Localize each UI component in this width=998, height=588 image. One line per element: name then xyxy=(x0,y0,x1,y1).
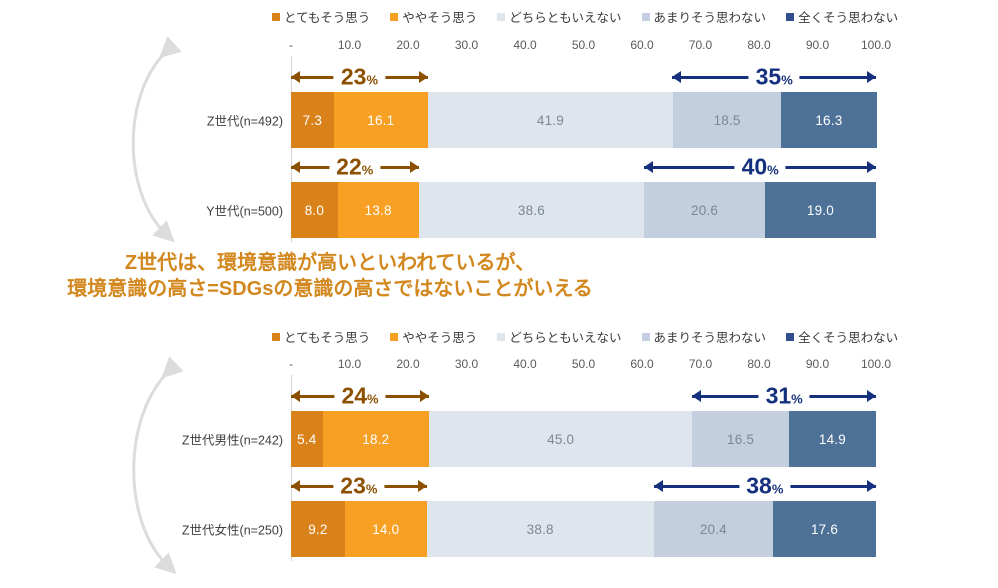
annotation-arrow: 40% xyxy=(644,156,876,178)
legend-item-label: どちらともいえない xyxy=(509,327,621,346)
bar-segment[interactable]: 20.6 xyxy=(644,182,765,238)
legend-item[interactable]: とてもそう思う xyxy=(272,327,370,346)
arrow-head-left-icon xyxy=(291,71,300,83)
axis-tick-label: 60.0 xyxy=(630,357,653,371)
legend-item-label: 全くそう思わない xyxy=(798,7,898,26)
annotation-value: 38% xyxy=(739,475,790,498)
axis-tick-label: 100.0 xyxy=(861,38,891,52)
bar-segment[interactable]: 8.0 xyxy=(291,182,338,238)
square-marker-icon xyxy=(272,13,280,21)
bar-segment[interactable]: 9.2 xyxy=(291,501,345,557)
annotation-number: 31 xyxy=(766,383,792,409)
axis-tick-label: - xyxy=(289,357,293,371)
bar-row: Z世代(n=492)7.316.141.918.516.3 xyxy=(291,92,876,148)
legend-item-label: 全くそう思わない xyxy=(798,327,898,346)
square-marker-icon xyxy=(390,13,398,21)
annotation-arrow: 23% xyxy=(291,475,427,497)
x-axis-top: -10.020.030.040.050.060.070.080.090.0100… xyxy=(291,38,876,54)
legend-item-label: ややそう思う xyxy=(402,327,477,346)
x-axis-bottom: -10.020.030.040.050.060.070.080.090.0100… xyxy=(291,357,876,373)
annotation-arrow: 24% xyxy=(291,385,429,407)
legend-item-label: どちらともいえない xyxy=(509,7,621,26)
axis-tick-label: 70.0 xyxy=(689,38,712,52)
axis-tick-label: 40.0 xyxy=(513,38,536,52)
square-marker-icon xyxy=(497,333,505,341)
bar-segment[interactable]: 18.2 xyxy=(323,411,429,467)
generation-trend-arrow-bottom xyxy=(108,356,198,581)
legend-item-label: とてもそう思う xyxy=(284,7,370,26)
annotation-number: 35 xyxy=(756,64,782,90)
arrow-head-left-icon xyxy=(291,161,300,173)
bar-segment[interactable]: 19.0 xyxy=(765,182,876,238)
arrow-head-right-icon xyxy=(867,390,876,402)
bar-segment[interactable]: 7.3 xyxy=(291,92,334,148)
square-marker-icon xyxy=(642,333,650,341)
bar-segment[interactable]: 45.0 xyxy=(429,411,692,467)
axis-tick-label: - xyxy=(289,38,293,52)
annotation-percent-sign: % xyxy=(767,163,779,178)
axis-tick-label: 30.0 xyxy=(455,357,478,371)
bar-row: Y世代(n=500)8.013.838.620.619.0 xyxy=(291,182,876,238)
legend-item-label: とてもそう思う xyxy=(284,327,370,346)
arrow-head-left-icon xyxy=(672,71,681,83)
bar-segment[interactable]: 14.0 xyxy=(345,501,427,557)
bar-segment[interactable]: 14.9 xyxy=(789,411,876,467)
category-label: Y世代(n=500) xyxy=(206,201,283,220)
legend-item[interactable]: ややそう思う xyxy=(390,7,477,26)
arrow-head-right-icon xyxy=(410,161,419,173)
center-message-line1: Z世代は、環境意識が高いといわれているが、 xyxy=(0,250,660,276)
legend-item-label: あまりそう思わない xyxy=(654,7,767,26)
arrow-head-right-icon xyxy=(867,480,876,492)
bar-segment[interactable]: 13.8 xyxy=(338,182,419,238)
axis-tick-label: 80.0 xyxy=(747,38,770,52)
axis-tick-label: 50.0 xyxy=(572,38,595,52)
arrow-head-right-icon xyxy=(419,71,428,83)
axis-tick-label: 10.0 xyxy=(338,357,361,371)
arrow-head-right-icon xyxy=(867,71,876,83)
square-marker-icon xyxy=(642,13,650,21)
annotation-value: 40% xyxy=(735,156,786,179)
axis-tick-label: 100.0 xyxy=(861,357,891,371)
axis-tick-label: 20.0 xyxy=(396,38,419,52)
arrow-head-right-icon xyxy=(420,390,429,402)
annotation-arrow: 23% xyxy=(291,66,428,88)
arrow-head-right-icon xyxy=(867,161,876,173)
axis-tick-label: 80.0 xyxy=(747,357,770,371)
bar-segment[interactable]: 18.5 xyxy=(673,92,781,148)
arrow-head-left-icon xyxy=(291,390,300,402)
arrow-head-left-icon xyxy=(644,161,653,173)
legend-item[interactable]: 全くそう思わない xyxy=(786,327,898,346)
bar-row: Z世代男性(n=242)5.418.245.016.514.9 xyxy=(291,411,876,467)
chart-top: Z世代(n=492)7.316.141.918.516.3Y世代(n=500)8… xyxy=(291,56,876,242)
annotation-percent-sign: % xyxy=(366,482,378,497)
arrow-head-left-icon xyxy=(291,480,300,492)
chart-legend-bottom: とてもそう思うややそう思うどちらともいえないあまりそう思わない全くそう思わない xyxy=(272,327,898,346)
legend-item[interactable]: あまりそう思わない xyxy=(642,7,767,26)
bar-row: Z世代女性(n=250)9.214.038.820.417.6 xyxy=(291,501,876,557)
slide-canvas: とてもそう思うややそう思うどちらともいえないあまりそう思わない全くそう思わない … xyxy=(0,0,998,588)
bar-segment[interactable]: 5.4 xyxy=(291,411,323,467)
axis-tick-label: 10.0 xyxy=(338,38,361,52)
legend-item-label: ややそう思う xyxy=(402,7,477,26)
square-marker-icon xyxy=(497,13,505,21)
annotation-arrow: 38% xyxy=(654,475,876,497)
generation-trend-arrow-top xyxy=(108,36,198,248)
annotation-number: 40 xyxy=(742,154,768,180)
annotation-value: 31% xyxy=(759,385,810,408)
bar-segment[interactable]: 16.5 xyxy=(692,411,789,467)
axis-tick-label: 20.0 xyxy=(396,357,419,371)
annotation-percent-sign: % xyxy=(791,392,803,407)
annotation-value: 24% xyxy=(334,385,385,408)
legend-item-label: あまりそう思わない xyxy=(654,327,767,346)
legend-item[interactable]: あまりそう思わない xyxy=(642,327,767,346)
axis-tick-label: 40.0 xyxy=(513,357,536,371)
annotation-number: 38 xyxy=(746,473,772,499)
annotation-arrow: 35% xyxy=(672,66,876,88)
bar-segment[interactable]: 38.8 xyxy=(427,501,654,557)
center-message: Z世代は、環境意識が高いといわれているが、 環境意識の高さ=SDGsの意識の高さ… xyxy=(0,250,660,303)
bar-segment[interactable]: 16.3 xyxy=(781,92,876,148)
annotation-number: 23 xyxy=(341,64,367,90)
arrow-head-left-icon xyxy=(654,480,663,492)
axis-tick-label: 30.0 xyxy=(455,38,478,52)
annotation-percent-sign: % xyxy=(772,482,784,497)
annotation-value: 23% xyxy=(334,66,385,89)
bar-segment[interactable]: 41.9 xyxy=(428,92,673,148)
bar-segment[interactable]: 17.6 xyxy=(773,501,876,557)
annotation-percent-sign: % xyxy=(367,392,379,407)
annotation-arrow: 31% xyxy=(692,385,876,407)
axis-tick-label: 70.0 xyxy=(689,357,712,371)
annotation-value: 22% xyxy=(329,156,380,179)
axis-tick-label: 90.0 xyxy=(806,357,829,371)
axis-tick-label: 90.0 xyxy=(806,38,829,52)
legend-item[interactable]: ややそう思う xyxy=(390,327,477,346)
square-marker-icon xyxy=(786,333,794,341)
annotation-number: 22 xyxy=(336,154,362,180)
category-label: Z世代(n=492) xyxy=(207,111,283,130)
annotation-percent-sign: % xyxy=(366,73,378,88)
axis-tick-label: 60.0 xyxy=(630,38,653,52)
square-marker-icon xyxy=(786,13,794,21)
annotation-percent-sign: % xyxy=(362,163,374,178)
annotation-number: 23 xyxy=(340,473,366,499)
annotation-arrow: 22% xyxy=(291,156,419,178)
annotation-value: 35% xyxy=(749,66,800,89)
legend-item[interactable]: とてもそう思う xyxy=(272,7,370,26)
bar-segment[interactable]: 38.6 xyxy=(419,182,645,238)
bar-segment[interactable]: 20.4 xyxy=(654,501,773,557)
axis-tick-label: 50.0 xyxy=(572,357,595,371)
legend-item[interactable]: どちらともいえない xyxy=(497,7,621,26)
bar-segment[interactable]: 16.1 xyxy=(334,92,428,148)
annotation-value: 23% xyxy=(333,475,384,498)
annotation-number: 24 xyxy=(341,383,367,409)
square-marker-icon xyxy=(272,333,280,341)
legend-item[interactable]: どちらともいえない xyxy=(497,327,621,346)
annotation-percent-sign: % xyxy=(781,73,793,88)
chart-legend-top: とてもそう思うややそう思うどちらともいえないあまりそう思わない全くそう思わない xyxy=(272,7,898,26)
square-marker-icon xyxy=(390,333,398,341)
arrow-head-right-icon xyxy=(418,480,427,492)
chart-bottom: Z世代男性(n=242)5.418.245.016.514.9Z世代女性(n=2… xyxy=(291,375,876,561)
center-message-line2: 環境意識の高さ=SDGsの意識の高さではないことがいえる xyxy=(0,276,660,302)
legend-item[interactable]: 全くそう思わない xyxy=(786,7,898,26)
arrow-head-left-icon xyxy=(692,390,701,402)
